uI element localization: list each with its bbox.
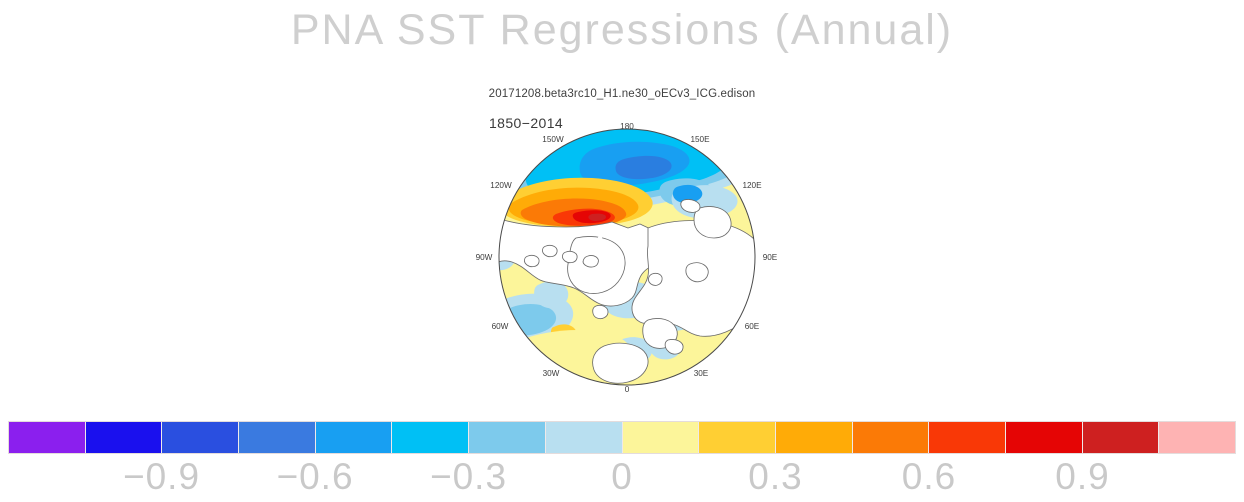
figure-canvas: PNA SST Regressions (Annual) 20171208.be… — [0, 0, 1244, 502]
colorbar-swatch — [469, 422, 546, 453]
colorbar-swatch — [623, 422, 700, 453]
colorbar-swatch — [929, 422, 1006, 453]
lon-label-60E: 60E — [745, 322, 760, 331]
colorbar-swatch — [162, 422, 239, 453]
lon-label-180: 180 — [620, 122, 634, 131]
colorbar-swatch — [853, 422, 930, 453]
colorbar-tick-label: 0.6 — [902, 456, 956, 498]
colorbar-swatch — [1006, 422, 1083, 453]
coast-kamchatka — [694, 206, 731, 238]
polar-map: 180 150E 120E 90E 60E 30E 0 30W 60W 90W … — [0, 88, 1244, 398]
colorbar-swatch — [239, 422, 316, 453]
coast-arctic-islands-1 — [542, 245, 557, 256]
coast-arctic-islands-2 — [562, 251, 577, 262]
lon-label-150E: 150E — [690, 135, 710, 144]
lon-label-120W: 120W — [490, 181, 512, 190]
lon-label-90W: 90W — [476, 253, 493, 262]
coast-novaya-zemlya — [686, 263, 708, 282]
lon-label-0: 0 — [625, 385, 630, 394]
lon-label-60W: 60W — [492, 322, 509, 331]
colorbar-tick-label: 0.3 — [748, 456, 802, 498]
colorbar-tick-label: 0 — [611, 456, 633, 498]
colorbar-swatch — [1083, 422, 1160, 453]
colorbar-swatch — [392, 422, 469, 453]
page-title: PNA SST Regressions (Annual) — [0, 6, 1244, 55]
colorbar-tick-label: −0.6 — [276, 456, 353, 498]
colorbar-swatch — [86, 422, 163, 453]
land-layer — [448, 199, 769, 383]
colorbar — [8, 421, 1236, 454]
lon-label-30E: 30E — [694, 369, 709, 378]
coast-svalbard — [648, 273, 662, 285]
lon-label-90E: 90E — [763, 253, 778, 262]
colorbar-tick-label: −0.9 — [123, 456, 200, 498]
colorbar-tick-label: 0.9 — [1055, 456, 1109, 498]
colorbar-swatch — [1159, 422, 1235, 453]
map-panel: 20171208.beta3rc10_H1.ne30_oECv3_ICG.edi… — [0, 88, 1244, 398]
lon-label-150W: 150W — [542, 135, 564, 144]
colorbar-swatch — [776, 422, 853, 453]
colorbar-swatch — [546, 422, 623, 453]
colorbar-tick-labels: −0.9−0.6−0.300.30.60.9 — [0, 456, 1244, 502]
colorbar-swatch — [699, 422, 776, 453]
coast-iceland — [593, 305, 608, 318]
colorbar-tick-label: −0.3 — [430, 456, 507, 498]
coast-arctic-islands-3 — [524, 255, 539, 266]
lon-label-120E: 120E — [742, 181, 762, 190]
coast-arctic-islands-4 — [583, 255, 598, 267]
colorbar-swatch — [316, 422, 393, 453]
colorbar-swatch — [9, 422, 86, 453]
lon-label-30W: 30W — [543, 369, 560, 378]
colorbar-swatches — [9, 422, 1235, 453]
